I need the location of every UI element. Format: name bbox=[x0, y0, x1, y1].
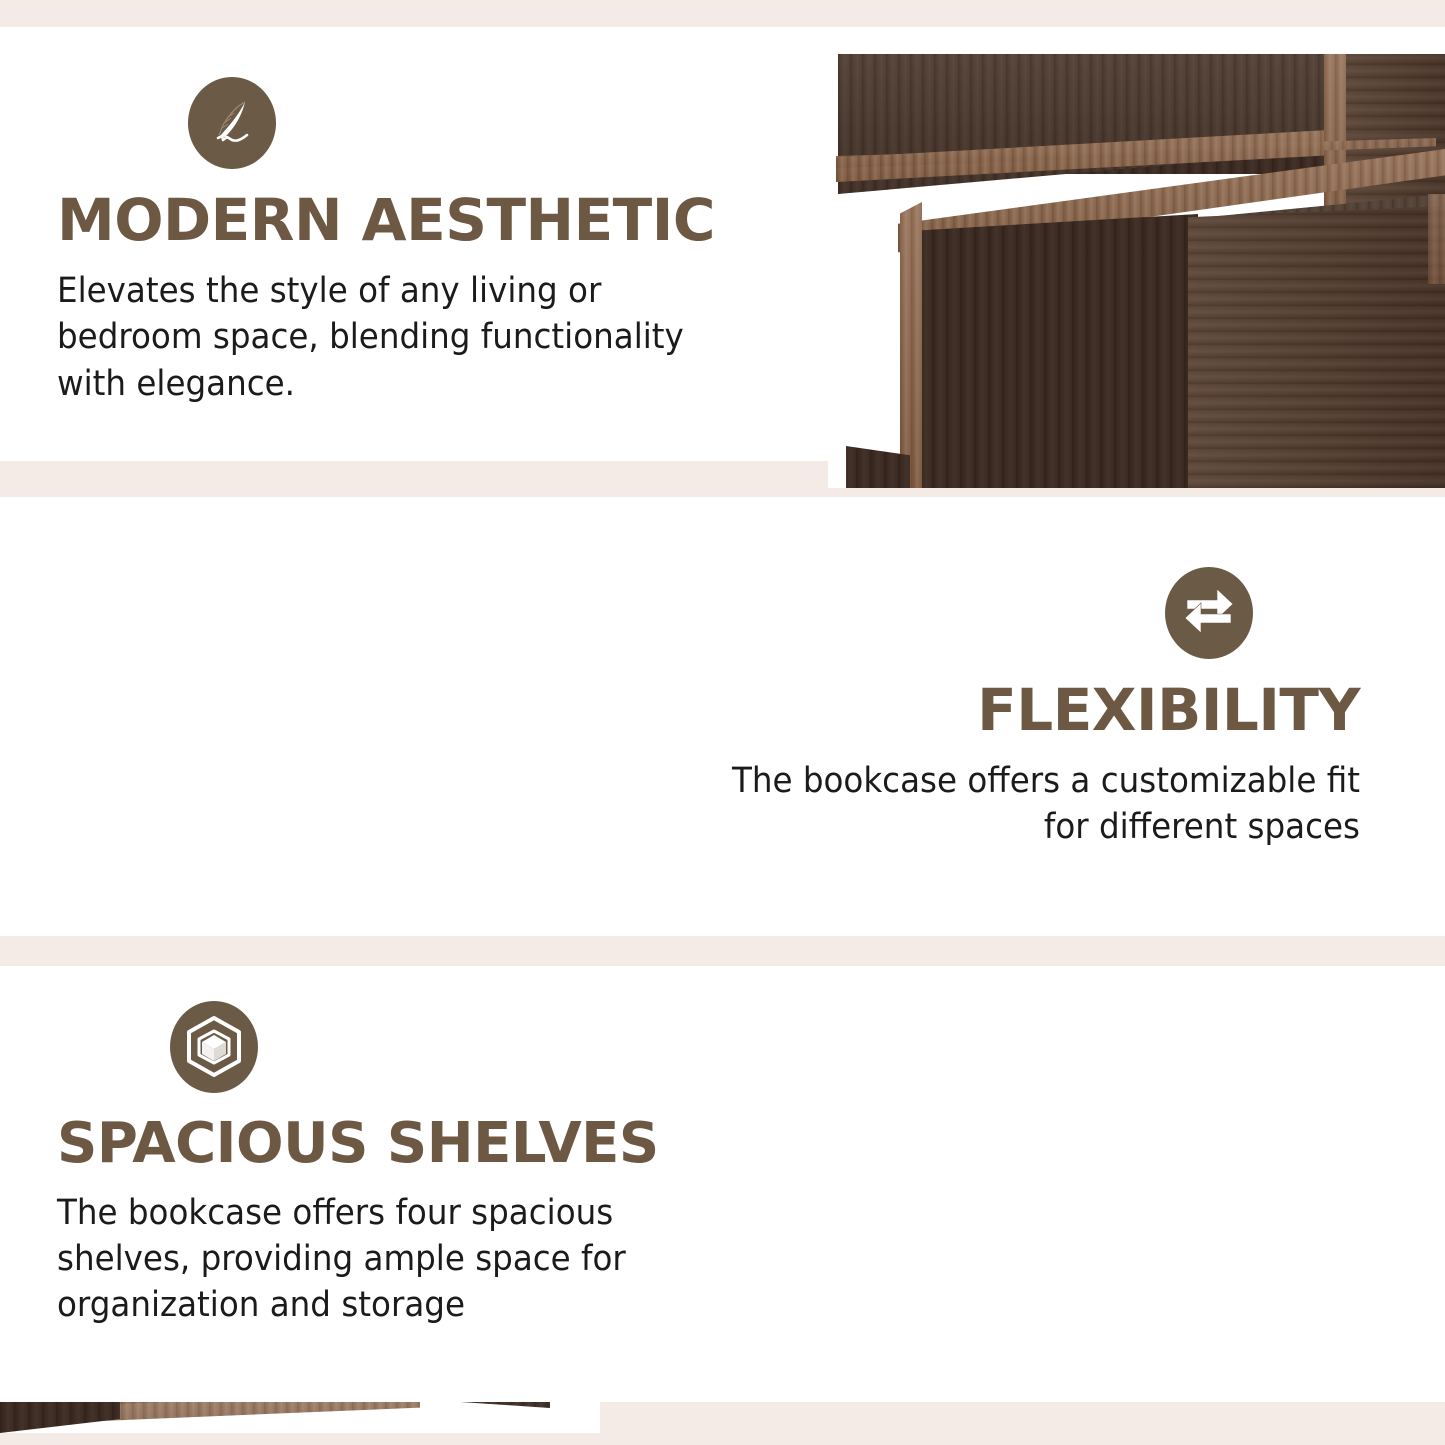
feature-text-block-2: FLEXIBILITY The bookcase offers a custom… bbox=[660, 567, 1360, 851]
bidirectional-arrow-icon-wrap bbox=[660, 567, 1253, 659]
top-divider-stripe bbox=[0, 0, 1445, 27]
feature-panel-modern-aesthetic: MODERN AESTHETIC Elevates the style of a… bbox=[0, 27, 1445, 461]
feature-description-3: The bookcase offers four spacious shelve… bbox=[57, 1190, 708, 1329]
feature-text-block-1: MODERN AESTHETIC Elevates the style of a… bbox=[57, 77, 797, 407]
feature-panel-spacious-shelves: SPACIOUS SHELVES The bookcase offers fou… bbox=[0, 966, 1445, 1402]
divider-stripe-2 bbox=[0, 936, 1445, 966]
feather-quill-icon bbox=[188, 77, 276, 169]
feature-panel-flexibility: FLEXIBILITY The bookcase offers a custom… bbox=[0, 497, 1445, 936]
feature-title-2: FLEXIBILITY bbox=[660, 681, 1360, 740]
bookcase-shelf-closeup-photo bbox=[828, 54, 1445, 488]
bidirectional-arrow-icon bbox=[1165, 567, 1253, 659]
feature-text-block-3: SPACIOUS SHELVES The bookcase offers fou… bbox=[57, 1001, 757, 1329]
feather-quill-icon-wrap bbox=[188, 77, 797, 169]
hexagon-cube-icon bbox=[170, 1001, 258, 1093]
feature-description-2: The bookcase offers a customizable fit f… bbox=[709, 758, 1360, 850]
infographic-page: MODERN AESTHETIC Elevates the style of a… bbox=[0, 0, 1445, 1445]
feature-title-3: SPACIOUS SHELVES bbox=[57, 1115, 757, 1172]
feature-title-1: MODERN AESTHETIC bbox=[57, 191, 797, 250]
feature-description-1: Elevates the style of any living or bedr… bbox=[57, 268, 745, 407]
hexagon-cube-icon-wrap bbox=[170, 1001, 757, 1093]
